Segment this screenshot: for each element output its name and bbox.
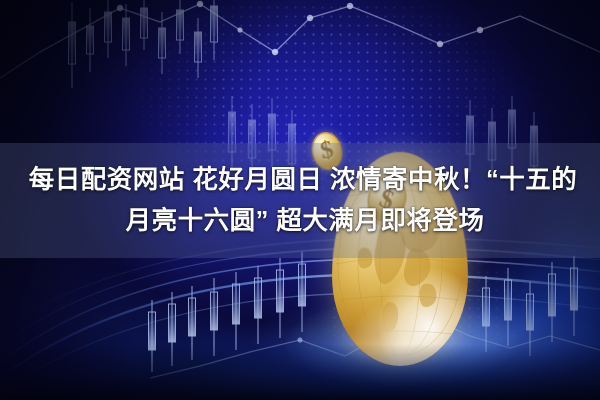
headline-line-1: 每日配资网站 花好月圆日 浓情寄中秋！“十五的 bbox=[23, 162, 577, 198]
headline-line-2: 月亮十六圆” 超大满月即将登场 bbox=[116, 203, 485, 239]
banner-image: $ $ 每日配资网站 花好月圆日 浓情寄中秋！“十五的 月亮十六圆” 超大满月即… bbox=[0, 0, 600, 400]
headline-text: 每日配资网站 花好月圆日 浓情寄中秋！“十五的 月亮十六圆” 超大满月即将登场 bbox=[0, 143, 600, 258]
bottom-fade bbox=[0, 344, 600, 400]
